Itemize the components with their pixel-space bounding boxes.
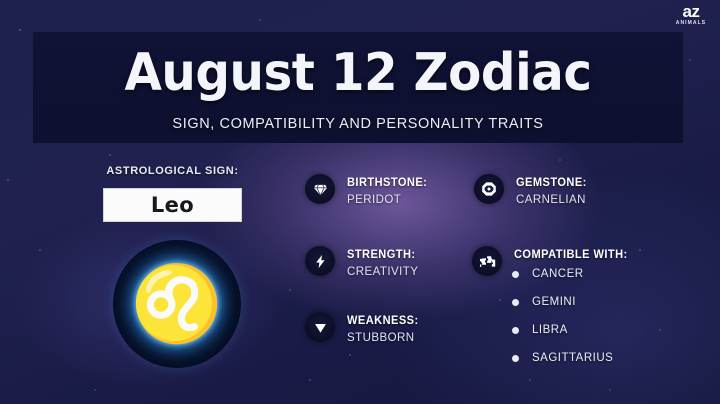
bullet-icon bbox=[512, 355, 519, 362]
page-title: August 12 Zodiac bbox=[56, 43, 661, 103]
bullet-icon bbox=[512, 271, 519, 278]
down-triangle-icon bbox=[305, 312, 335, 342]
list-item: CANCER bbox=[512, 268, 613, 280]
list-item: GEMINI bbox=[512, 296, 613, 308]
fact-compatible-with-label: COMPATIBLE WITH: bbox=[514, 247, 628, 261]
fact-strength-label: STRENGTH: bbox=[347, 247, 416, 261]
astrological-sign-value: Leo bbox=[151, 193, 194, 217]
bullet-icon bbox=[512, 327, 519, 334]
compatible-sign-label: LIBRA bbox=[532, 324, 568, 336]
fact-gemstone-value: CARNELIAN bbox=[516, 194, 586, 206]
logo-primary-text: az bbox=[668, 3, 714, 20]
page-subtitle: SIGN, COMPATIBILITY AND PERSONALITY TRAI… bbox=[33, 116, 683, 132]
gem-octagon-icon bbox=[474, 174, 504, 204]
astrological-sign-box: Leo bbox=[103, 188, 242, 222]
leo-symbol-circle: ♌ bbox=[113, 240, 241, 368]
logo-secondary-text: ANIMALS bbox=[668, 21, 714, 26]
title-band: August 12 Zodiac SIGN, COMPATIBILITY AND… bbox=[33, 32, 683, 143]
lightning-bolt-icon bbox=[305, 246, 335, 276]
astrological-sign-label: ASTROLOGICAL SIGN: bbox=[0, 165, 345, 177]
compatible-sign-label: GEMINI bbox=[532, 296, 576, 308]
diamond-icon bbox=[305, 174, 335, 204]
bullet-icon bbox=[512, 299, 519, 306]
leo-constellation-symbol: ♌ bbox=[113, 240, 241, 368]
fact-weakness-value: STUBBORN bbox=[347, 332, 415, 344]
compatible-signs-list: CANCER GEMINI LIBRA SAGITTARIUS bbox=[512, 268, 613, 380]
fact-birthstone-value: PERIDOT bbox=[347, 194, 401, 206]
az-animals-logo[interactable]: az ANIMALS bbox=[668, 3, 714, 29]
list-item: LIBRA bbox=[512, 324, 613, 336]
compatible-sign-label: CANCER bbox=[532, 268, 584, 280]
puzzle-pieces-icon bbox=[472, 246, 502, 276]
compatible-sign-label: SAGITTARIUS bbox=[532, 352, 613, 364]
zodiac-infographic: az ANIMALS August 12 Zodiac SIGN, COMPAT… bbox=[0, 0, 720, 404]
list-item: SAGITTARIUS bbox=[512, 352, 613, 364]
fact-birthstone-label: BIRTHSTONE: bbox=[347, 175, 427, 189]
fact-strength-value: CREATIVITY bbox=[347, 266, 418, 278]
fact-weakness-label: WEAKNESS: bbox=[347, 313, 419, 327]
fact-gemstone-label: GEMSTONE: bbox=[516, 175, 587, 189]
